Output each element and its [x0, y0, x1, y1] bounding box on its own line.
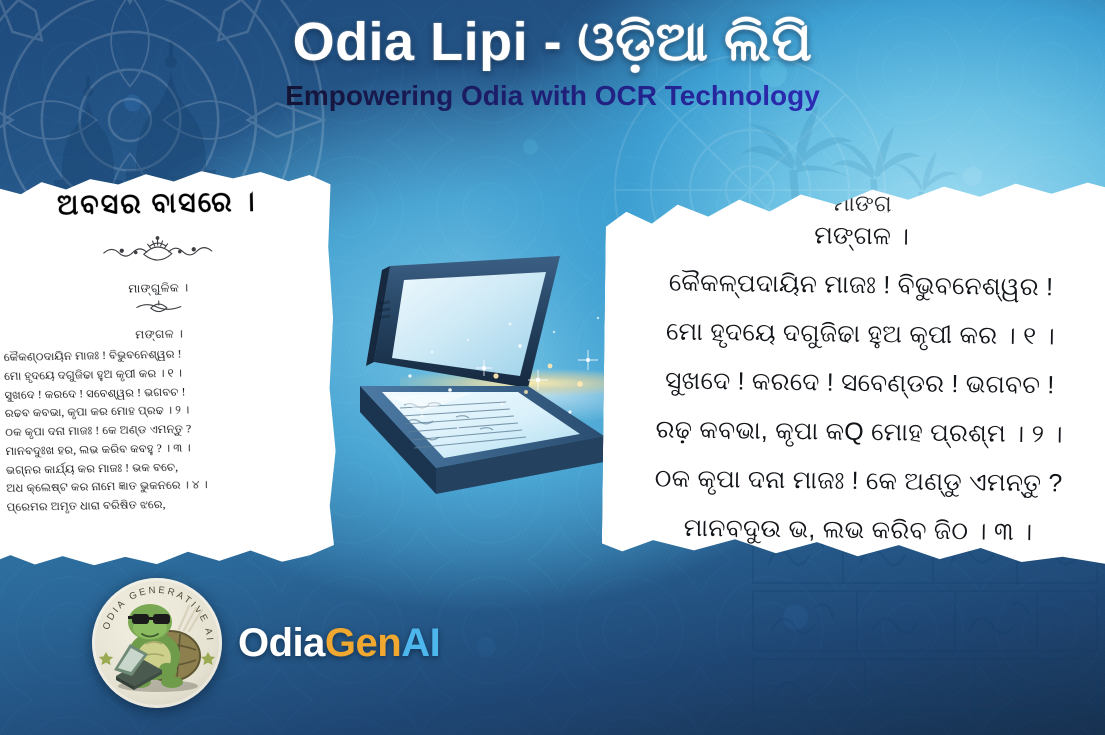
manuscript-section-1: ମାଙ୍ଗୁଳିକ ।: [0, 278, 333, 300]
ornament-divider-small-icon: [133, 300, 185, 315]
odiagenai-logo-badge: ODIA GENERATIVE AI: [92, 578, 222, 708]
ocr-line: ରଢ଼ କବଭା, କୃପା କQ ମୋହ ପ୍ରଶ୍ମ । ୨ ।: [603, 415, 1105, 450]
manuscript-heading: ଅବସର ବାସରେ ।: [0, 184, 331, 225]
ocr-line: ସୁଖଦେ ! କରଦେ ! ସବେଣ୍ଡର ! ଭଗବଚ !: [604, 366, 1105, 401]
brand-wordmark: OdiaGenAI: [238, 621, 440, 666]
manuscript-section-2: ମଙ୍ଗଳ ।: [0, 324, 333, 346]
scanned-manuscript-panel: ଅବସର ବାସରେ । ମାଙ୍ଗୁଳିକ ।: [0, 169, 338, 568]
poster-canvas: Odia Lipi - ଓଡ଼ିଆ ଲିପି Empowering Odia w…: [0, 0, 1105, 735]
ocr-line: ମାନବଦୁଉ ଭ, ଲଭ କରିବ ଜିଠ । ୩ ।: [602, 513, 1105, 548]
document-scanner-icon: [352, 236, 628, 532]
page-title: Odia Lipi - ଓଡ଼ିଆ ଲିପି: [0, 14, 1105, 71]
manuscript-body-text: କୈକଣ୍ଠଦାୟିନ ମାଜଃ ! ବିଭୁବନେଶ୍ୱର ! ମୋ ହୃଦୟ…: [4, 343, 321, 518]
ocr-output-content: ମାଙ୍ଗୁ ମଙ୍ଗଳ । କୈକଳ୍ପଦାୟିନ ମାଜଃ ! ବିଭୁବନ…: [602, 173, 1105, 548]
brand-word-gen: Gen: [325, 621, 401, 665]
ocr-heading: ମଙ୍ଗଳ ।: [605, 219, 1105, 254]
ornament-divider-icon: [97, 235, 218, 267]
poster-header: Odia Lipi - ଓଡ଼ିଆ ଲିପି Empowering Odia w…: [0, 14, 1105, 111]
ocr-line: ଠକ କୃପା ଦନା ମାଜଃ ! କେ ଅଣ୍ଡୁ ଏମନ୍ତୁ ?: [602, 464, 1105, 499]
brand-lockup: ODIA GENERATIVE AI: [92, 578, 440, 708]
ocr-line: କୈକଳ୍ପଦାୟିନ ମାଜଃ ! ବିଭୁବନେଶ୍ୱର !: [605, 268, 1105, 303]
ocr-output-panel: ମାଙ୍ଗୁ ମଙ୍ଗଳ । କୈକଳ୍ପଦାୟିନ ମାଜଃ ! ବିଭୁବନ…: [602, 173, 1105, 565]
brand-word-ai: AI: [401, 621, 440, 665]
ocr-line: ମୋ ହୃଦୟେ ଦଗୁଜିଢା ହୁଅ କୃପୀ କର । ୧ ।: [604, 317, 1105, 352]
scanned-manuscript-content: ଅବସର ବାସରେ । ମାଙ୍ଗୁଳିକ ।: [0, 169, 337, 519]
page-subtitle: Empowering Odia with OCR Technology: [0, 81, 1105, 112]
turtle-mascot-icon: [92, 578, 222, 708]
brand-word-odia: Odia: [238, 621, 325, 665]
